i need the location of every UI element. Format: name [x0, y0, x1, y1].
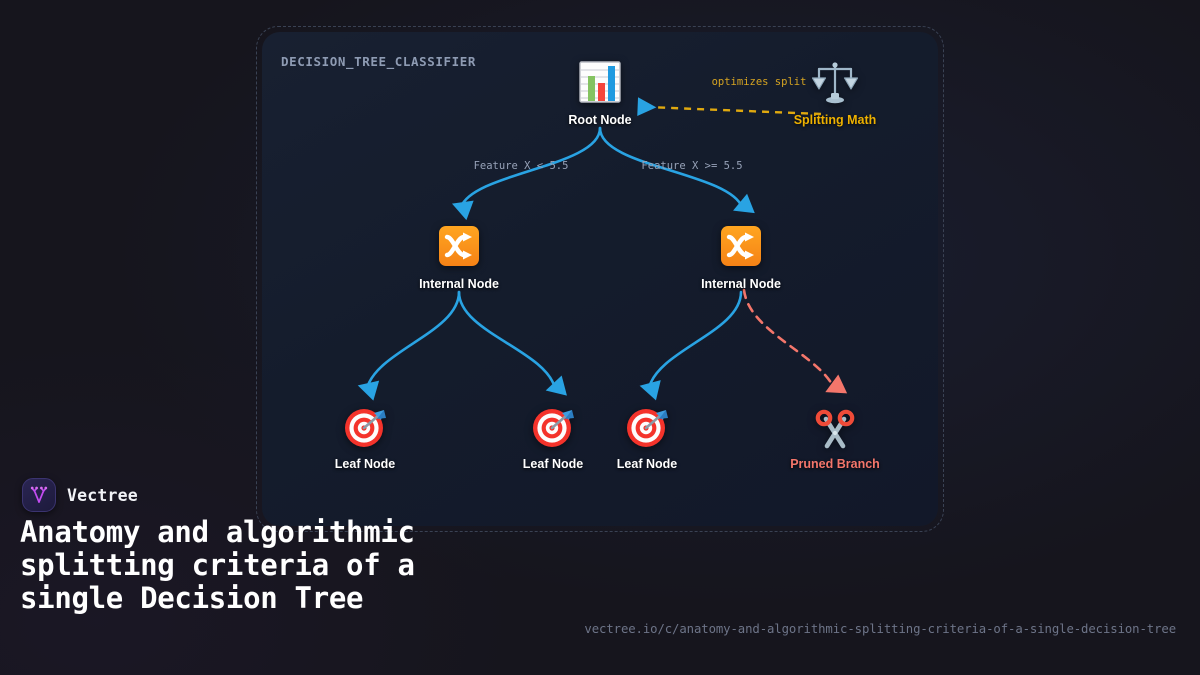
node-internal-2[interactable]: Internal Node — [666, 224, 816, 291]
edge-label-optimizes-split: optimizes split — [712, 76, 807, 88]
edge-internal1-leaf2 — [459, 292, 555, 388]
node-label: Leaf Node — [617, 457, 677, 471]
balance-scale-icon — [812, 60, 858, 108]
diagram-panel: DECISION_TREE_CLASSIFIER — [262, 32, 938, 526]
node-leaf-1[interactable]: Leaf Node — [290, 406, 440, 471]
scissors-icon — [813, 406, 857, 452]
node-label: Internal Node — [701, 277, 781, 291]
node-leaf-3[interactable]: Leaf Node — [572, 406, 722, 471]
edge-internal2-pruned — [744, 290, 834, 388]
vectree-logo-icon — [22, 478, 56, 512]
target-icon — [625, 406, 669, 452]
shuffle-icon — [718, 224, 764, 272]
panel-title: DECISION_TREE_CLASSIFIER — [281, 54, 476, 69]
node-splitting-math[interactable]: Splitting Math — [760, 60, 910, 127]
edge-internal1-leaf1 — [367, 292, 459, 388]
node-label: Splitting Math — [794, 113, 877, 127]
decision-tree-diagram: DECISION_TREE_CLASSIFIER — [262, 32, 938, 526]
node-label: Pruned Branch — [790, 457, 880, 471]
bar-chart-icon — [577, 60, 623, 108]
edge-label-split-left: Feature X < 5.5 — [474, 160, 569, 172]
target-icon — [531, 406, 575, 452]
edge-label-split-right: Feature X >= 5.5 — [641, 160, 742, 172]
page-title: Anatomy and algorithmic splitting criter… — [20, 516, 520, 615]
shuffle-icon — [436, 224, 482, 272]
node-root[interactable]: Root Node — [525, 60, 675, 127]
node-label: Leaf Node — [335, 457, 395, 471]
target-icon — [343, 406, 387, 452]
node-label: Internal Node — [419, 277, 499, 291]
node-internal-1[interactable]: Internal Node — [384, 224, 534, 291]
footer-url: vectree.io/c/anatomy-and-algorithmic-spl… — [584, 622, 1176, 636]
node-label: Root Node — [568, 113, 631, 127]
brand: Vectree — [22, 478, 138, 512]
brand-name: Vectree — [67, 486, 138, 505]
edge-internal2-leaf3 — [649, 292, 741, 388]
node-pruned-branch[interactable]: Pruned Branch — [760, 406, 910, 471]
